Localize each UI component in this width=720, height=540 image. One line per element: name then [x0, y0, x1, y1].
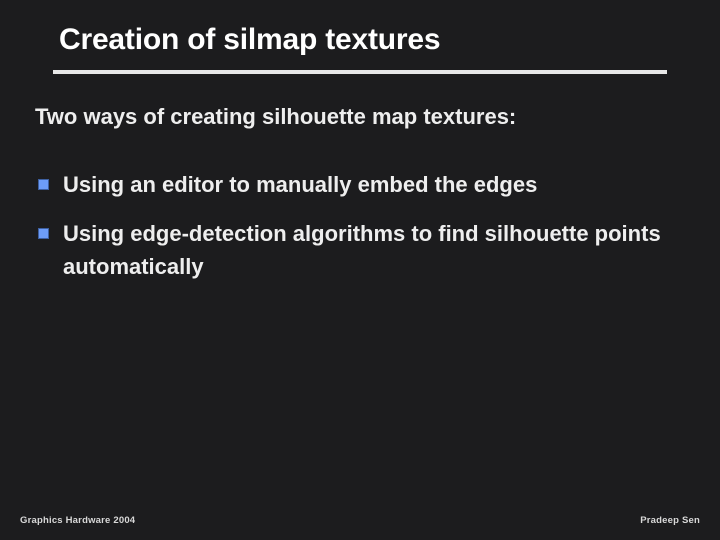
slide-footer: Graphics Hardware 2004 Pradeep Sen	[0, 510, 720, 540]
list-item-label: Using an editor to manually embed the ed…	[63, 168, 685, 201]
list-item-label: Using edge-detection algorithms to find …	[63, 217, 685, 283]
footer-conference-label: Graphics Hardware 2004	[20, 515, 135, 526]
square-bullet-icon	[38, 179, 49, 190]
subtitle-text: Two ways of creating silhouette map text…	[35, 103, 516, 131]
list-item: Using an editor to manually embed the ed…	[35, 168, 685, 201]
list-item: Using edge-detection algorithms to find …	[35, 217, 685, 283]
bullet-list: Using an editor to manually embed the ed…	[35, 168, 685, 299]
footer-author-label: Pradeep Sen	[640, 515, 700, 526]
title-divider	[53, 70, 667, 74]
presentation-slide: Creation of silmap textures Two ways of …	[0, 0, 720, 540]
page-title: Creation of silmap textures	[59, 22, 440, 58]
square-bullet-icon	[38, 228, 49, 239]
